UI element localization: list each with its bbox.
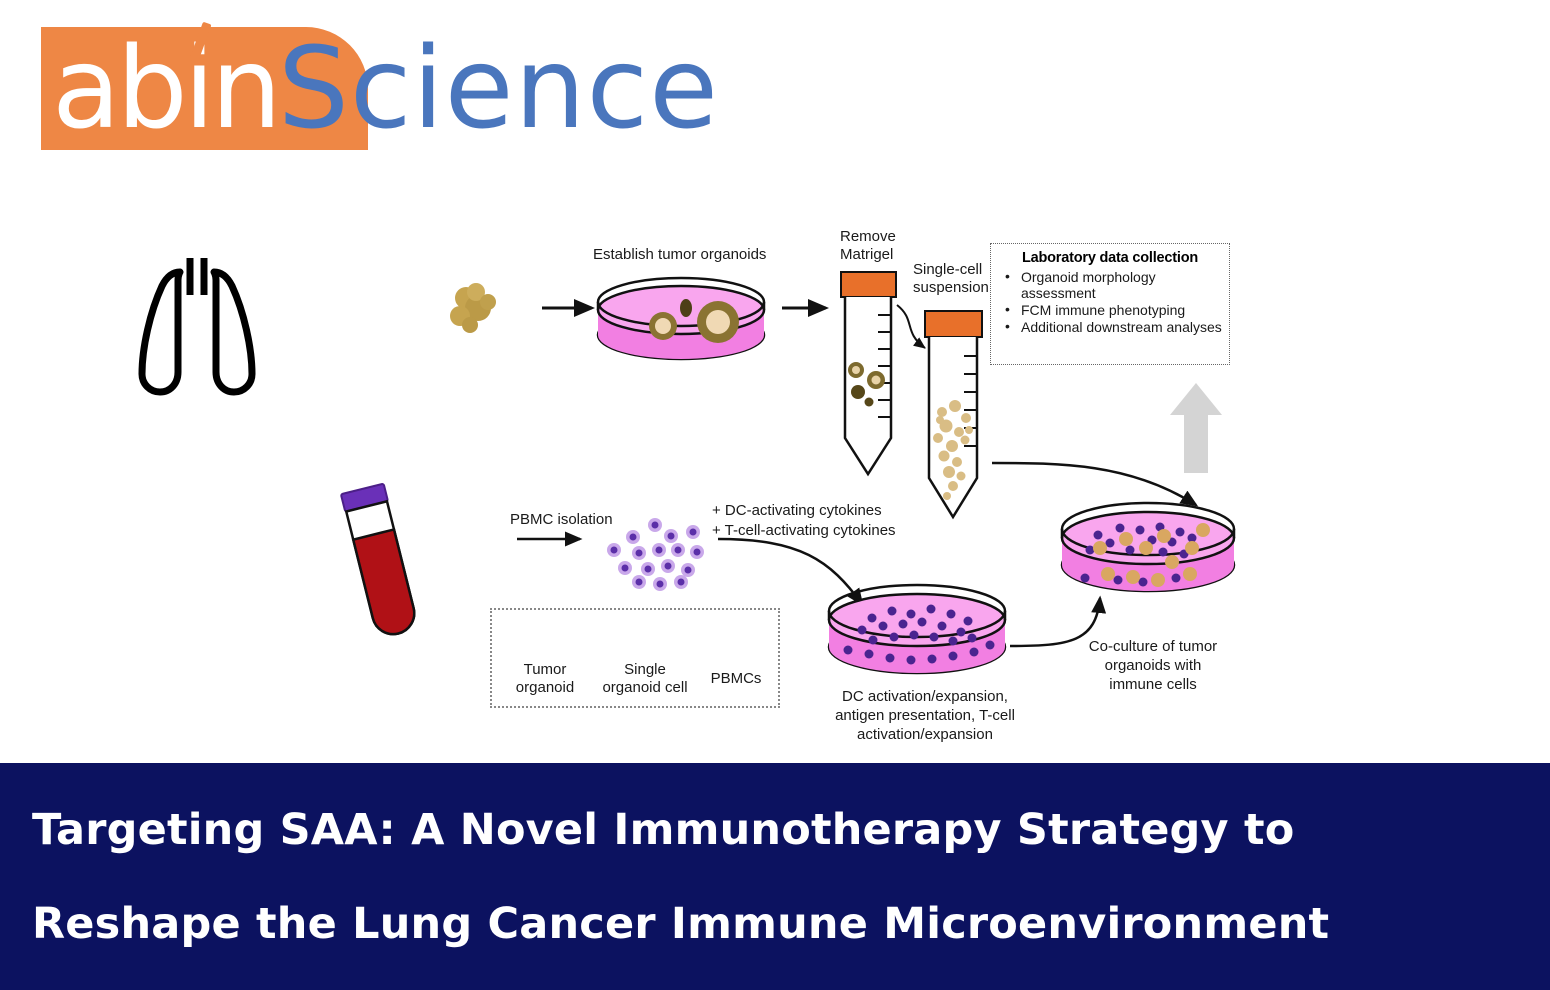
label-pbmc-isolation: PBMC isolation bbox=[510, 511, 613, 528]
petri-dish-organoids bbox=[598, 278, 764, 359]
label-coculture-line1: Co-culture of tumor bbox=[1058, 638, 1248, 655]
lab-box-item: FCM immune phenotyping bbox=[1001, 302, 1229, 318]
poster-page: abinScience bbox=[0, 0, 1550, 990]
label-establish-tumor-organoids: Establish tumor organoids bbox=[593, 246, 766, 263]
centrifuge-tube-1 bbox=[841, 272, 896, 474]
workflow-diagram: Establish tumor organoids Remove Matrige… bbox=[0, 180, 1550, 763]
brand-logo[interactable]: abinScience bbox=[0, 0, 900, 180]
legend-label-pbmcs: PBMCs bbox=[697, 670, 775, 687]
laboratory-data-collection-box: Laboratory data collection Organoid morp… bbox=[990, 243, 1230, 365]
logo-text-science: Science bbox=[278, 24, 719, 154]
label-coculture-line3: immune cells bbox=[1058, 676, 1248, 693]
lab-box-list: Organoid morphology assessment FCM immun… bbox=[1001, 269, 1229, 335]
poster-title-line-2: Reshape the Lung Cancer Immune Microenvi… bbox=[0, 877, 1550, 971]
arrow-pbmc-to-dcdish bbox=[718, 539, 862, 604]
poster-title-line-1: Targeting SAA: A Novel Immunotherapy Str… bbox=[0, 783, 1550, 877]
logo-text-abin: abin bbox=[52, 24, 278, 154]
lung-tumor-nodule bbox=[450, 283, 496, 333]
label-dc-activation-line1: DC activation/expansion, bbox=[820, 688, 1030, 705]
logo-wordmark: abinScience bbox=[52, 26, 812, 152]
arrow-results-up bbox=[1170, 383, 1222, 473]
poster-title-banner: Targeting SAA: A Novel Immunotherapy Str… bbox=[0, 763, 1550, 990]
arrow-tube1-to-tube2 bbox=[897, 305, 925, 348]
label-single-cell-line2: suspension bbox=[913, 279, 989, 296]
petri-dish-coculture bbox=[1062, 503, 1234, 591]
blood-collection-tube bbox=[341, 484, 420, 639]
centrifuge-tube-2 bbox=[925, 311, 982, 517]
lab-box-item: Additional downstream analyses bbox=[1001, 319, 1229, 335]
legend-label-tumor-organoid-line2: organoid bbox=[500, 679, 590, 696]
lab-box-item: Organoid morphology assessment bbox=[1001, 269, 1229, 301]
legend-label-tumor-organoid-line1: Tumor bbox=[500, 661, 590, 678]
lungs-icon bbox=[142, 258, 252, 392]
label-cytokines-line1: + DC-activating cytokines bbox=[712, 502, 882, 519]
label-coculture-line2: organoids with bbox=[1058, 657, 1248, 674]
label-dc-activation-line2: antigen presentation, T-cell bbox=[820, 707, 1030, 724]
pbmc-cluster bbox=[607, 518, 704, 591]
arrow-tube2-to-coculture bbox=[992, 463, 1196, 505]
lab-box-title: Laboratory data collection bbox=[991, 250, 1229, 266]
label-remove-matrigel-line2: Matrigel bbox=[840, 246, 893, 263]
petri-dish-dc-activation bbox=[829, 585, 1005, 673]
legend-label-single-cell-line1: Single bbox=[586, 661, 704, 678]
label-dc-activation-line3: activation/expansion bbox=[820, 726, 1030, 743]
label-single-cell-line1: Single-cell bbox=[913, 261, 982, 278]
label-cytokines-line2: + T-cell-activating cytokines bbox=[712, 522, 896, 539]
label-remove-matrigel-line1: Remove bbox=[840, 228, 896, 245]
legend-label-single-cell-line2: organoid cell bbox=[586, 679, 704, 696]
